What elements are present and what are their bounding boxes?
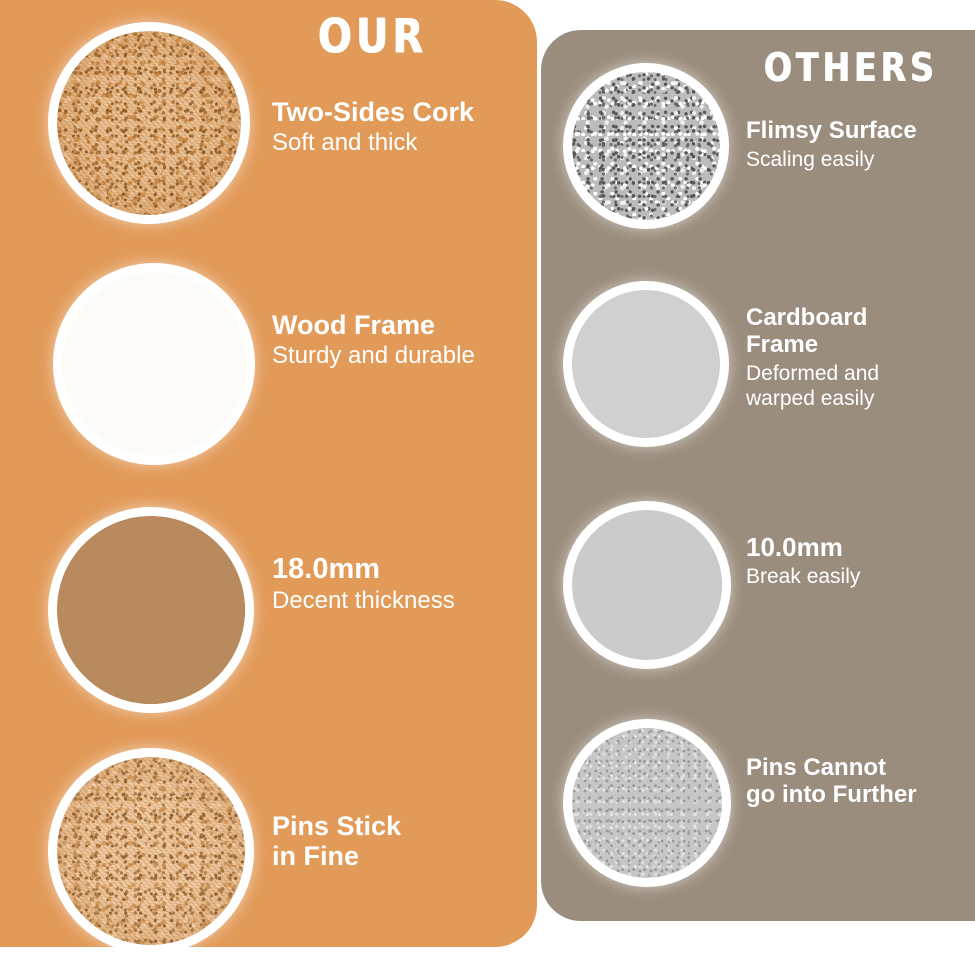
cardboard-frame-photo [572, 290, 720, 438]
cork-texture-photo [57, 31, 241, 215]
caliper-18mm-photo: 0 10 mm/inch 18.0 OFF ON ZERO [57, 516, 245, 704]
our-panel-heading: OUR [318, 10, 427, 64]
caliper-10mm-photo: 0 10 mm/inch 10.0 OFF ON ZE [572, 510, 722, 660]
our-feature-1-title: Two-Sides Cork [272, 97, 532, 127]
others-feature-3-subtitle: Break easily [746, 564, 956, 589]
our-feature-3-title: 18.0mm [272, 553, 532, 585]
others-feature-2-text: Cardboard Frame Deformed and warped easi… [746, 305, 956, 411]
our-feature-1-text: Two-Sides Cork Soft and thick [272, 97, 532, 158]
others-feature-1-text: Flimsy Surface Scaling easily [746, 118, 966, 172]
our-feature-2-text: Wood Frame Sturdy and durable [272, 310, 532, 371]
others-feature-4-title: Pins Cannot go into Further [746, 755, 966, 809]
our-feature-3-text: 18.0mm Decent thickness [272, 553, 532, 616]
others-feature-3-text: 10.0mm Break easily [746, 533, 956, 589]
others-feature-3-title: 10.0mm [746, 533, 956, 562]
others-feature-1-title: Flimsy Surface [746, 118, 966, 145]
our-feature-4-title: Pins Stick in Fine [272, 811, 522, 871]
our-feature-2-title: Wood Frame [272, 310, 532, 340]
our-feature-3-subtitle: Decent thickness [272, 587, 532, 616]
others-feature-2-title: Cardboard Frame [746, 305, 956, 359]
our-feature-1-subtitle: Soft and thick [272, 129, 532, 158]
others-feature-1-subtitle: Scaling easily [746, 147, 966, 172]
others-feature-4-text: Pins Cannot go into Further [746, 755, 966, 811]
pin-on-hard-surface-photo [572, 728, 722, 878]
others-panel-heading: OTHERS [764, 44, 938, 90]
wood-frame-photo [62, 272, 246, 456]
pins-in-cork-photo [57, 757, 245, 945]
others-feature-2-subtitle: Deformed and warped easily [746, 361, 956, 411]
comparison-infographic: OUR Two-Sides Cork Soft and thick [0, 0, 975, 959]
cracked-surface-photo [572, 72, 720, 220]
our-feature-2-subtitle: Sturdy and durable [272, 342, 532, 371]
our-feature-4-text: Pins Stick in Fine [272, 811, 522, 873]
